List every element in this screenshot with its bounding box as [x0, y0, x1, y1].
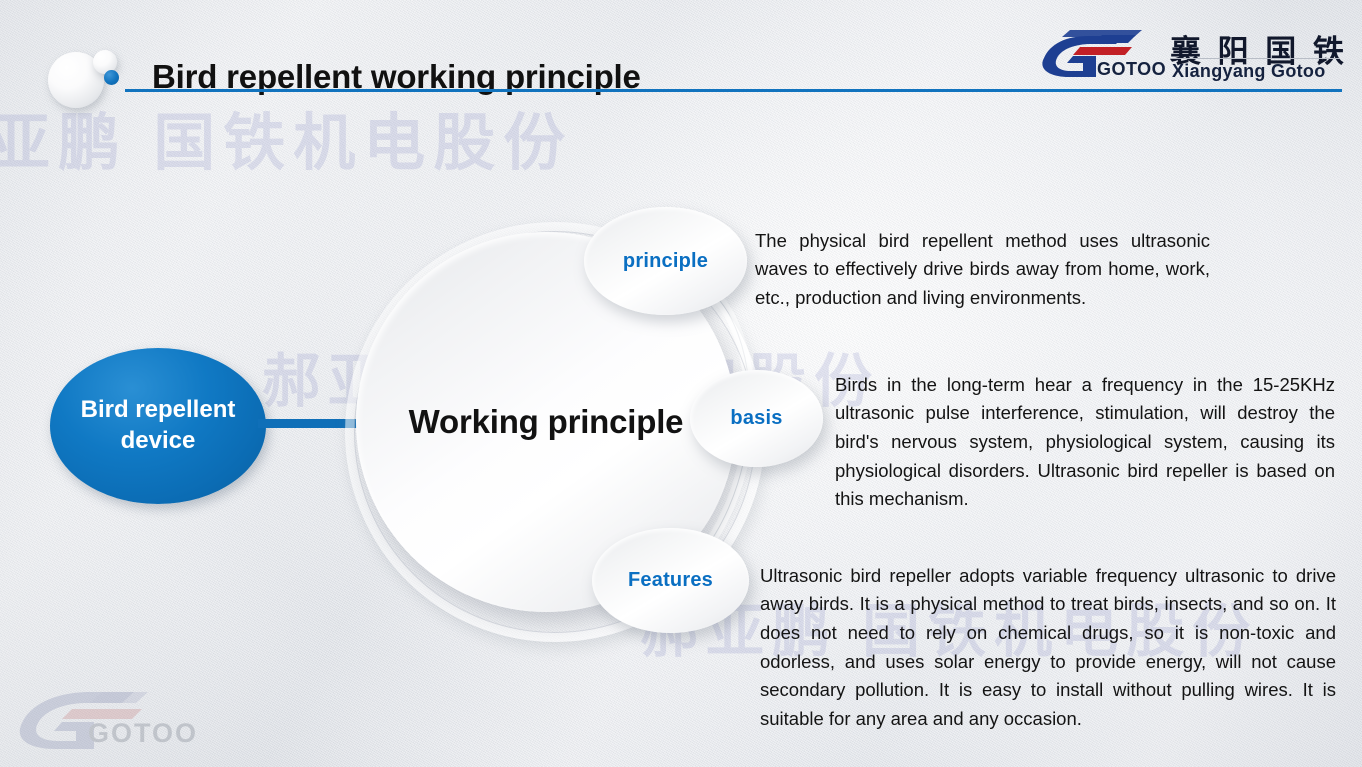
- watermark-gotoo-logo: GOTOO: [14, 679, 189, 755]
- text-block-basis: Birds in the long-term hear a frequency …: [835, 371, 1335, 514]
- node-bird-repellent-device-label: Bird repellent device: [50, 395, 266, 456]
- gotoo-gf-logo-icon: [14, 679, 189, 755]
- header-divider: [125, 89, 1342, 92]
- node-basis-label: basis: [730, 407, 782, 430]
- hub-label: Working principle: [409, 403, 684, 441]
- brand-divider: [1170, 58, 1340, 59]
- brand-gotoo-word: GOTOO: [1097, 59, 1166, 80]
- text-block-principle: The physical bird repellent method uses …: [755, 227, 1210, 313]
- text-block-features: Ultrasonic bird repeller adopts variable…: [760, 562, 1336, 734]
- decorative-blue-dot-icon: [104, 70, 119, 85]
- watermark-logo-word: GOTOO: [88, 718, 198, 749]
- node-features-label: Features: [628, 569, 713, 592]
- node-features[interactable]: Features: [592, 528, 749, 633]
- brand-english-name: Xiangyang Gotoo: [1172, 61, 1326, 82]
- slide-canvas: 亚鹏 国铁机电股份 郝亚鹏 国铁机电股份 郝亚鹏 国铁机电股份 GOTOO Bi…: [0, 0, 1362, 767]
- node-bird-repellent-device[interactable]: Bird repellent device: [50, 348, 266, 504]
- node-principle-label: principle: [623, 250, 708, 273]
- node-basis[interactable]: basis: [690, 370, 823, 467]
- node-principle[interactable]: principle: [584, 207, 747, 315]
- brand-logo: GOTOO 襄 阳 国 铁 Xiangyang Gotoo: [1040, 26, 1340, 84]
